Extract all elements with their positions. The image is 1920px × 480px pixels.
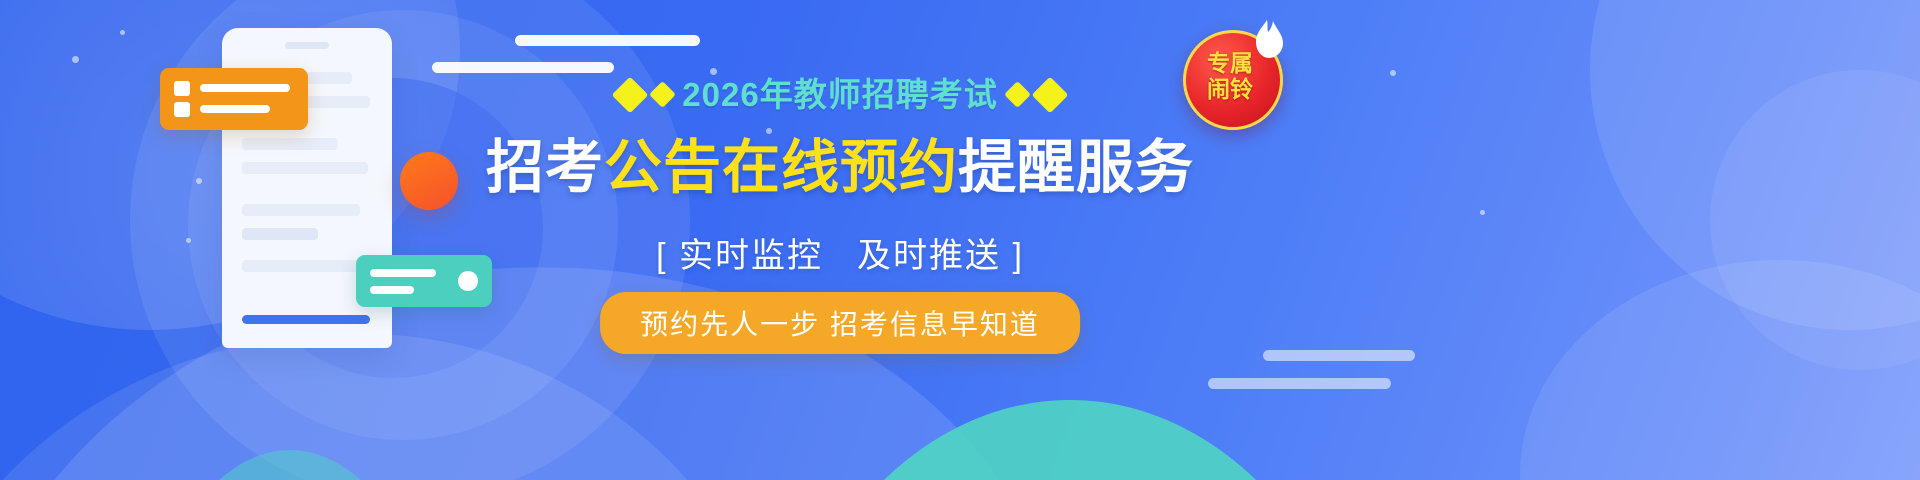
phone-accent-bar (242, 315, 370, 324)
phone-notch (285, 42, 329, 49)
orange-accent-circle (400, 152, 458, 210)
background-circle-bottom-right (1520, 260, 1920, 480)
decor-stripe (1208, 378, 1391, 389)
headline-part-3: 提醒服务 (958, 135, 1194, 200)
badge-line-2: 闹铃 (1207, 77, 1253, 103)
toggle-knob-icon (458, 271, 478, 291)
background-circle-right (1710, 70, 1920, 370)
decor-dot (120, 30, 125, 35)
diamond-icon (612, 76, 649, 113)
promo-banner: 2026年教师招聘考试 招考公告在线预约提醒服务 [ 实时监控及时推送 ] 预约… (0, 0, 1920, 480)
open-bracket: [ (656, 237, 667, 275)
form-illustration (160, 0, 520, 480)
phone-placeholder-line (242, 138, 338, 150)
card-line (200, 84, 290, 92)
decor-dot (1390, 70, 1396, 76)
badge-text: 专属 闹铃 (1183, 30, 1277, 124)
card-line (370, 286, 414, 294)
diamond-icon (1004, 81, 1031, 108)
phone-placeholder-line (242, 162, 368, 174)
checkbox-glyph (174, 81, 190, 96)
banner-subtitle: 2026年教师招聘考试 (682, 78, 997, 111)
cta-button[interactable]: 预约先人一步 招考信息早知道 (600, 292, 1080, 354)
feature-list: [ 实时监控及时推送 ] (480, 228, 1200, 277)
feature-item-1: 实时监控 (679, 237, 823, 275)
orange-list-card (160, 68, 308, 130)
card-line (200, 105, 270, 113)
phone-placeholder-line (242, 204, 360, 216)
badge-line-1: 专属 (1207, 51, 1253, 77)
phone-placeholder-line (242, 228, 318, 240)
feature-item-2: 及时推送 (857, 237, 1001, 275)
headline-part-1: 招考 (486, 135, 604, 200)
teal-toggle-card (356, 255, 492, 307)
exclusive-alarm-badge[interactable]: 专属 闹铃 (1183, 22, 1283, 122)
decor-dot (72, 56, 79, 63)
subtitle-row: 2026年教师招聘考试 (480, 78, 1200, 111)
checkbox-glyph (174, 102, 190, 117)
card-line (370, 269, 436, 277)
banner-headline: 招考公告在线预约提醒服务 (480, 136, 1200, 200)
banner-content: 2026年教师招聘考试 招考公告在线预约提醒服务 [ 实时监控及时推送 ] 预约… (480, 0, 1200, 480)
phone-placeholder-line (242, 260, 372, 272)
close-bracket: ] (1012, 237, 1023, 275)
diamond-icon (1031, 76, 1068, 113)
background-circle-top-right (1590, 0, 1920, 330)
headline-highlight: 公告在线预约 (604, 135, 958, 200)
decor-dot (1480, 210, 1485, 215)
decor-stripe (1263, 350, 1415, 361)
diamond-icon (649, 81, 676, 108)
